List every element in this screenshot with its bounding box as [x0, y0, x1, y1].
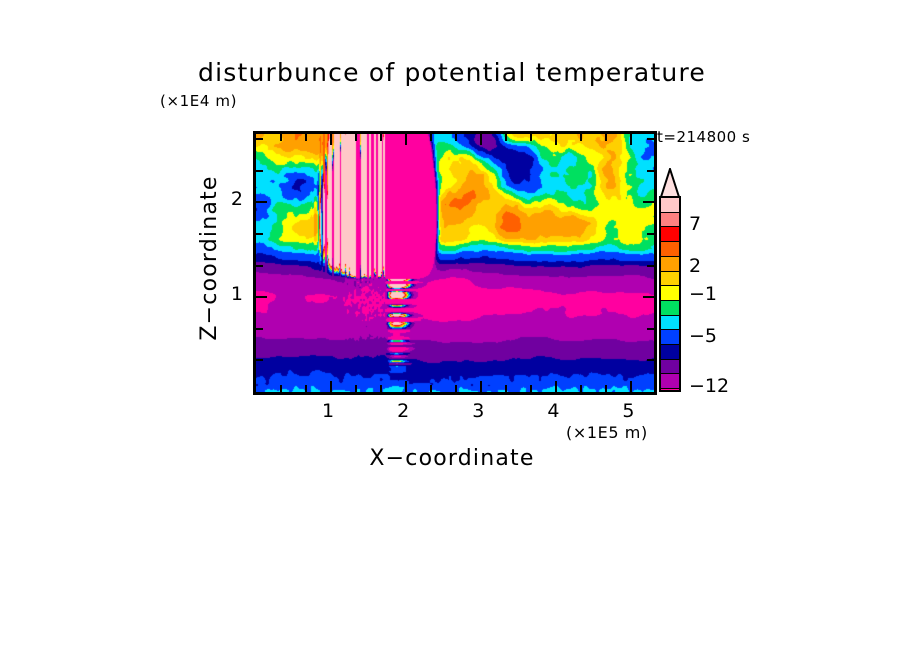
colorbar-band [661, 345, 679, 360]
x-tick-top [355, 134, 357, 141]
contour-field-canvas [256, 134, 654, 392]
colorbar-band [661, 301, 679, 316]
colorbar-band [661, 330, 679, 345]
x-tick-bottom [430, 385, 432, 392]
x-tick-bottom [355, 385, 357, 392]
colorbar-tick-label: −5 [689, 325, 717, 347]
x-tick-label: 1 [322, 400, 334, 422]
x-tick-top [455, 134, 457, 141]
x-tick-bottom [380, 385, 382, 392]
y-tick-label: 1 [219, 283, 243, 305]
x-tick-bottom [405, 381, 407, 392]
colorbar-band [661, 227, 679, 242]
y-axis-title: Z−coordinate [197, 58, 222, 458]
x-tick-label: 3 [472, 400, 484, 422]
y-tick-right [647, 138, 654, 140]
colorbar-band [661, 198, 679, 213]
y-tick-label: 2 [219, 188, 243, 210]
x-tick-top [305, 134, 307, 141]
y-tick-left [256, 138, 263, 140]
x-tick-top [480, 134, 482, 145]
y-tick-right [643, 201, 654, 203]
colorbar-band [661, 316, 679, 331]
x-axis-unit-label: (×1E5 m) [566, 423, 648, 442]
x-tick-top [430, 134, 432, 141]
plot-area [253, 131, 657, 395]
x-tick-bottom [280, 385, 282, 392]
colorbar-band [661, 257, 679, 272]
x-tick-top [330, 134, 332, 145]
y-tick-right [647, 328, 654, 330]
x-tick-top [580, 134, 582, 141]
colorbar: 72−1−5−12 [659, 168, 681, 392]
y-tick-right [647, 265, 654, 267]
x-tick-bottom [605, 385, 607, 392]
x-tick-bottom [330, 381, 332, 392]
x-tick-top [605, 134, 607, 141]
x-tick-bottom [580, 385, 582, 392]
x-tick-label: 5 [622, 400, 634, 422]
x-axis-title: X−coordinate [253, 446, 651, 471]
x-tick-bottom [305, 385, 307, 392]
colorbar-band [661, 360, 679, 375]
time-annotation: t=214800 s [657, 128, 750, 146]
colorbar-band [661, 272, 679, 287]
y-tick-left [256, 170, 263, 172]
x-tick-top [530, 134, 532, 141]
colorbar-band [661, 374, 679, 389]
colorbar-band [661, 242, 679, 257]
colorbar-band [661, 286, 679, 301]
y-tick-right [647, 359, 654, 361]
colorbar-tip-icon [659, 168, 681, 198]
x-tick-bottom [530, 385, 532, 392]
y-tick-right [647, 233, 654, 235]
colorbar-tick-label: 7 [689, 213, 701, 235]
x-tick-top [280, 134, 282, 141]
y-tick-right [647, 170, 654, 172]
x-tick-label: 4 [547, 400, 559, 422]
x-tick-bottom [630, 381, 632, 392]
y-tick-left [256, 328, 263, 330]
x-tick-top [555, 134, 557, 145]
colorbar-tick-label: −12 [689, 375, 729, 397]
colorbar-bands [659, 196, 681, 392]
colorbar-band [661, 389, 679, 392]
x-tick-label: 2 [397, 400, 409, 422]
x-tick-top [630, 134, 632, 145]
y-tick-left [256, 359, 263, 361]
y-tick-left [256, 265, 263, 267]
contour-plot-figure: disturbunce of potential temperature (×1… [0, 0, 904, 654]
x-tick-top [405, 134, 407, 145]
x-tick-top [505, 134, 507, 141]
y-tick-right [643, 296, 654, 298]
x-tick-bottom [455, 385, 457, 392]
colorbar-tick-label: −1 [689, 283, 717, 305]
page-title: disturbunce of potential temperature [0, 58, 904, 87]
x-tick-bottom [480, 381, 482, 392]
x-tick-top [380, 134, 382, 141]
x-tick-bottom [555, 381, 557, 392]
y-tick-left [256, 296, 267, 298]
colorbar-tick-label: 2 [689, 255, 701, 277]
y-tick-left [256, 201, 267, 203]
colorbar-band [661, 213, 679, 228]
y-tick-left [256, 233, 263, 235]
x-tick-bottom [505, 385, 507, 392]
